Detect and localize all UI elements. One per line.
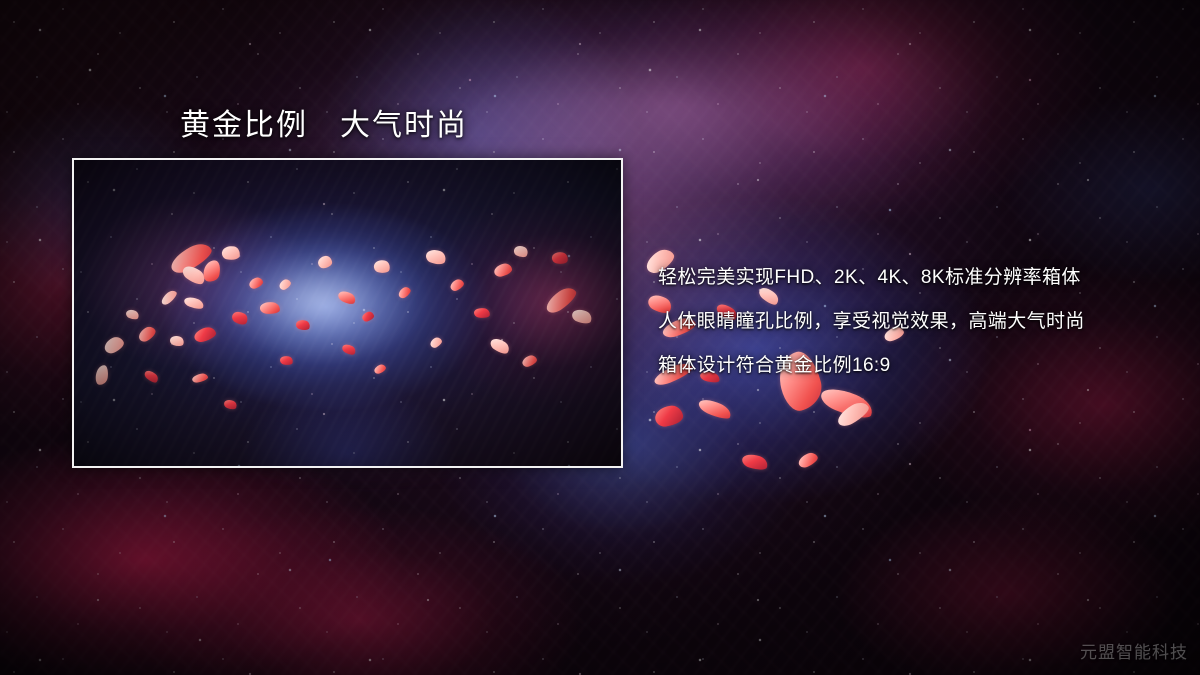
photo-vignette bbox=[74, 160, 621, 466]
body-text-line: 箱体设计符合黄金比例16:9 bbox=[658, 344, 1188, 388]
flower-petal bbox=[654, 404, 685, 428]
flower-petal bbox=[796, 450, 819, 469]
body-text-line: 人体眼睛瞳孔比例，享受视觉效果，高端大气时尚 bbox=[658, 300, 1188, 344]
slide-canvas: 黄金比例 大气时尚 轻松完美实现FHD、2K、4K、8K标准分辨率箱体人体眼睛瞳… bbox=[0, 0, 1200, 675]
flower-petal bbox=[834, 399, 871, 430]
page-title: 黄金比例 大气时尚 bbox=[180, 100, 468, 144]
body-text-line: 轻松完美实现FHD、2K、4K、8K标准分辨率箱体 bbox=[658, 256, 1188, 300]
galaxy-photo-inner bbox=[74, 160, 621, 466]
body-text-block: 轻松完美实现FHD、2K、4K、8K标准分辨率箱体人体眼睛瞳孔比例，享受视觉效果… bbox=[658, 256, 1188, 388]
galaxy-photo-frame bbox=[72, 158, 623, 468]
flower-petal bbox=[697, 396, 734, 423]
company-watermark: 元盟智能科技 bbox=[1080, 638, 1188, 663]
flower-petal bbox=[740, 451, 769, 472]
flower-petal bbox=[818, 383, 876, 424]
